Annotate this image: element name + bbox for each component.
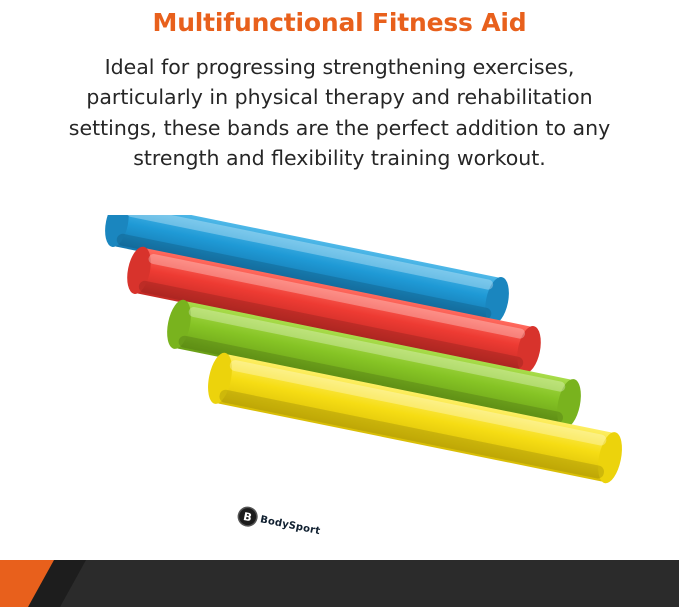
- page-title: Multifunctional Fitness Aid: [0, 8, 679, 37]
- product-photo: B BodySport B BodySport B BodySport B Bo…: [0, 215, 679, 560]
- blue-band-logo: B BodySport: [236, 505, 322, 541]
- photo-bottom-gap: [0, 546, 679, 560]
- description-paragraph: Ideal for progressing strengthening exer…: [50, 52, 629, 173]
- footer-bar: [0, 560, 679, 607]
- brand-letter: B: [242, 510, 252, 522]
- brand-disc-icon: B: [236, 505, 260, 529]
- brand-wordmark: BodySport: [259, 514, 321, 537]
- product-image-card: Multifunctional Fitness Aid Ideal for pr…: [0, 0, 679, 607]
